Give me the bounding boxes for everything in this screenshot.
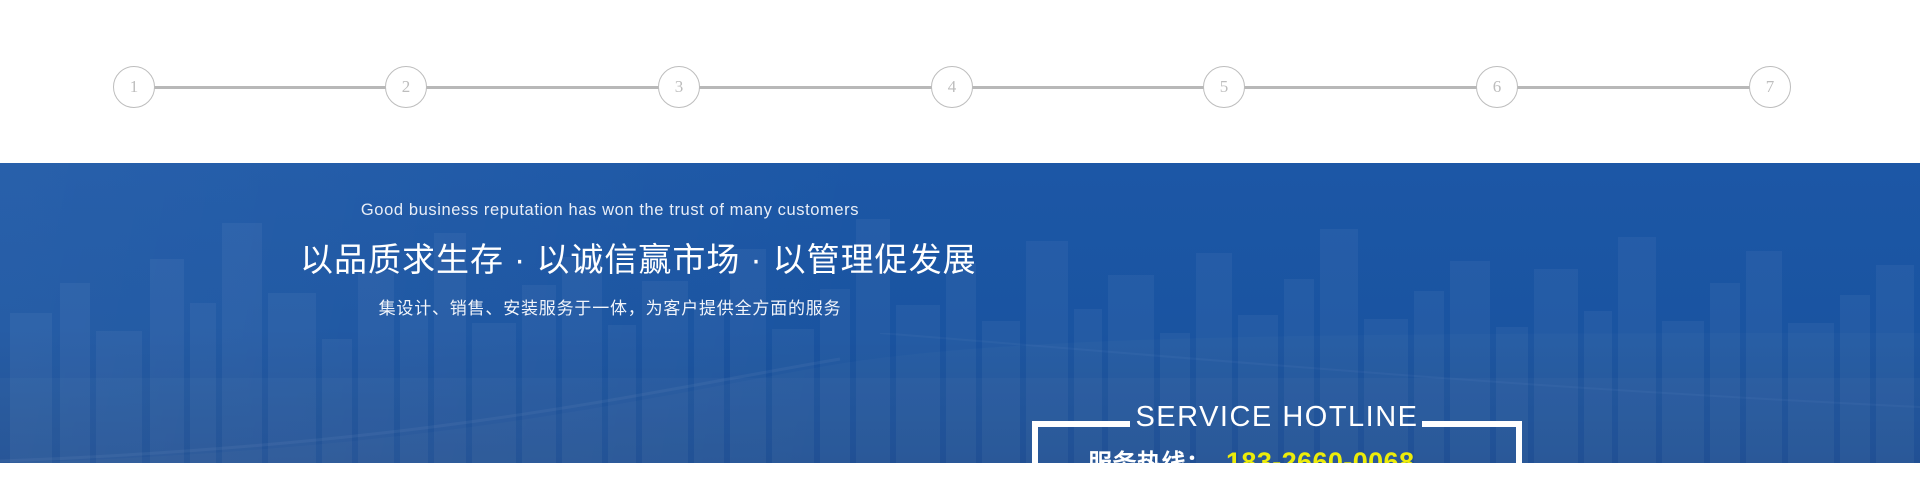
step-label: 3 — [675, 77, 684, 96]
step-circle-7[interactable]: 7 — [1749, 66, 1791, 108]
hotline-number-list: 服务热线： 183-2660-0068 服务热线： 0551-63749777 — [1032, 443, 1522, 463]
hotline-row-primary: 服务热线： 183-2660-0068 — [1032, 443, 1522, 463]
step-circle-4[interactable]: 4 — [931, 66, 973, 108]
banner-subline-chinese: 集设计、销售、安装服务于一体，为客户提供全方面的服务 — [300, 294, 920, 319]
service-banner: Good business reputation has won the tru… — [0, 163, 1920, 463]
banner-headline-chinese: 以品质求生存 · 以诚信赢市场 · 以管理促发展 — [300, 233, 920, 281]
step-label: 4 — [948, 77, 957, 96]
stepper-bar: 1 2 3 4 5 6 7 — [0, 0, 1920, 163]
step-label: 6 — [1493, 77, 1502, 96]
banner-tagline-english: Good business reputation has won the tru… — [300, 201, 920, 220]
city-skyline-background-image — [0, 163, 1920, 463]
step-label: 1 — [130, 77, 139, 96]
hotline-label: 服务热线： — [1088, 443, 1226, 463]
step-label: 7 — [1766, 77, 1775, 96]
step-circle-5[interactable]: 5 — [1203, 66, 1245, 108]
step-circle-6[interactable]: 6 — [1476, 66, 1518, 108]
hotline-title: SERVICE HOTLINE — [1032, 401, 1522, 434]
banner-copy-block: Good business reputation has won the tru… — [300, 201, 920, 319]
hotline-number-mobile[interactable]: 183-2660-0068 — [1226, 447, 1414, 463]
step-circle-2[interactable]: 2 — [385, 66, 427, 108]
step-circle-1[interactable]: 1 — [113, 66, 155, 108]
road-curve-decoration — [0, 333, 1920, 463]
step-label: 2 — [402, 77, 411, 96]
step-circle-3[interactable]: 3 — [658, 66, 700, 108]
step-label: 5 — [1220, 77, 1229, 96]
page-root: 1 2 3 4 5 6 7 — [0, 0, 1920, 500]
service-hotline-box: SERVICE HOTLINE 服务热线： 183-2660-0068 服务热线… — [1032, 421, 1522, 463]
